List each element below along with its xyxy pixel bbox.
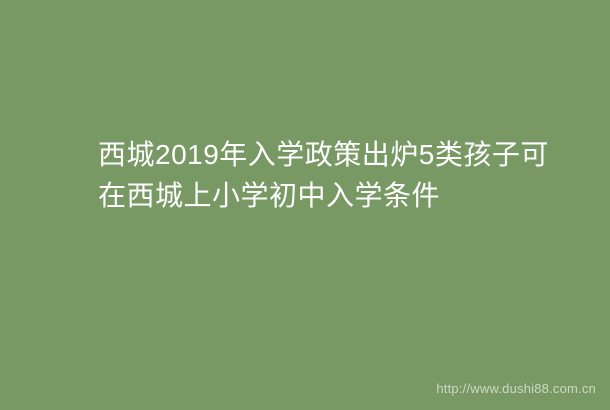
character-illustration <box>0 205 215 410</box>
poster-headline: 西城2019年入学政策出炉5类孩子可在西城上小学初中入学条件 <box>98 134 568 216</box>
poster-canvas: 西城2019年入学政策出炉5类孩子可在西城上小学初中入学条件 http://ww… <box>0 0 610 410</box>
source-watermark: http://www.dushi88.com.cn <box>436 381 596 396</box>
